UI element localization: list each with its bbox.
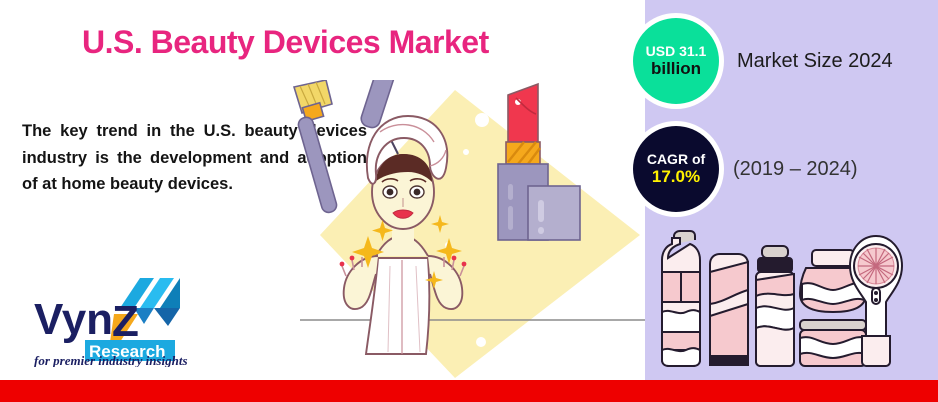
cagr-caption: CAGR of: [647, 152, 705, 168]
beauty-scene-illustration: [280, 80, 650, 380]
cagr-badge: CAGR of 17.0%: [633, 126, 719, 212]
cagr-period-label: (2019 – 2024): [733, 158, 858, 181]
pump-bottle-icon: [662, 231, 700, 366]
infographic-canvas: U.S. Beauty Devices Market The key trend…: [0, 0, 938, 402]
market-size-badge: USD 31.1 billion: [633, 18, 719, 104]
svg-text:Z: Z: [112, 297, 139, 346]
beauty-products-illustration: [650, 228, 910, 378]
svg-text:Vyn: Vyn: [34, 295, 113, 344]
page-title: U.S. Beauty Devices Market: [82, 24, 552, 61]
market-size-unit: billion: [651, 59, 701, 78]
cagr-value: 17.0%: [652, 167, 700, 186]
spray-bottle-icon: [756, 246, 794, 366]
bottom-accent-bar: [0, 380, 938, 402]
makeup-fan-brush-icon: [294, 80, 338, 214]
vynz-research-logo: Vyn Z Research for premier industry insi…: [28, 262, 193, 367]
market-size-value: USD 31.1: [646, 44, 707, 60]
cream-tube-icon: [710, 254, 748, 365]
svg-text:for premier industry insights: for premier industry insights: [34, 353, 188, 367]
market-size-label: Market Size 2024: [737, 50, 893, 73]
cosmetic-case-icon: [528, 186, 580, 240]
compact-case-icon: [800, 320, 866, 366]
